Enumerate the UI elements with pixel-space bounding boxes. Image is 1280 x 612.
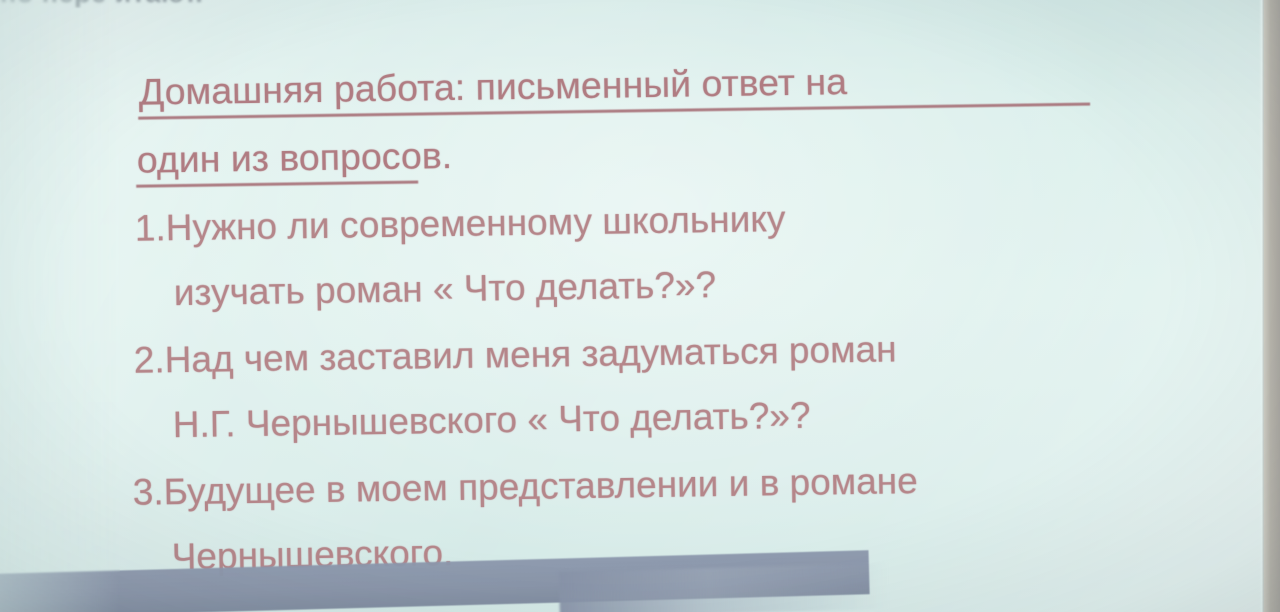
bottom-shadow-band-fade xyxy=(559,563,890,612)
homework-heading-line-1: Домашняя работа: письменный ответ на xyxy=(139,63,848,111)
heading-underline-2 xyxy=(136,181,418,188)
question-2-line-2: Н.Г. Чернышевского « Что делать?»? xyxy=(172,397,810,443)
question-2-line-1: 2.Над чем заставил меня задуматься роман xyxy=(134,330,897,378)
question-1-line-2: изучать роман « Что делать?»? xyxy=(174,266,717,311)
question-1-line-1: 1.Нужно ли современному школьнику xyxy=(135,200,786,247)
question-3-line-1: 3.Будущее в моем представлении и в роман… xyxy=(132,462,918,511)
slide-text-block: Домашняя работа: письменный ответ на оди… xyxy=(0,0,1268,612)
homework-heading-line-2: один из вопросов. xyxy=(137,137,453,179)
projected-slide-photo: но пере итают. Домашняя работа: письменн… xyxy=(0,0,1280,612)
wall-strip-right xyxy=(1264,0,1280,612)
